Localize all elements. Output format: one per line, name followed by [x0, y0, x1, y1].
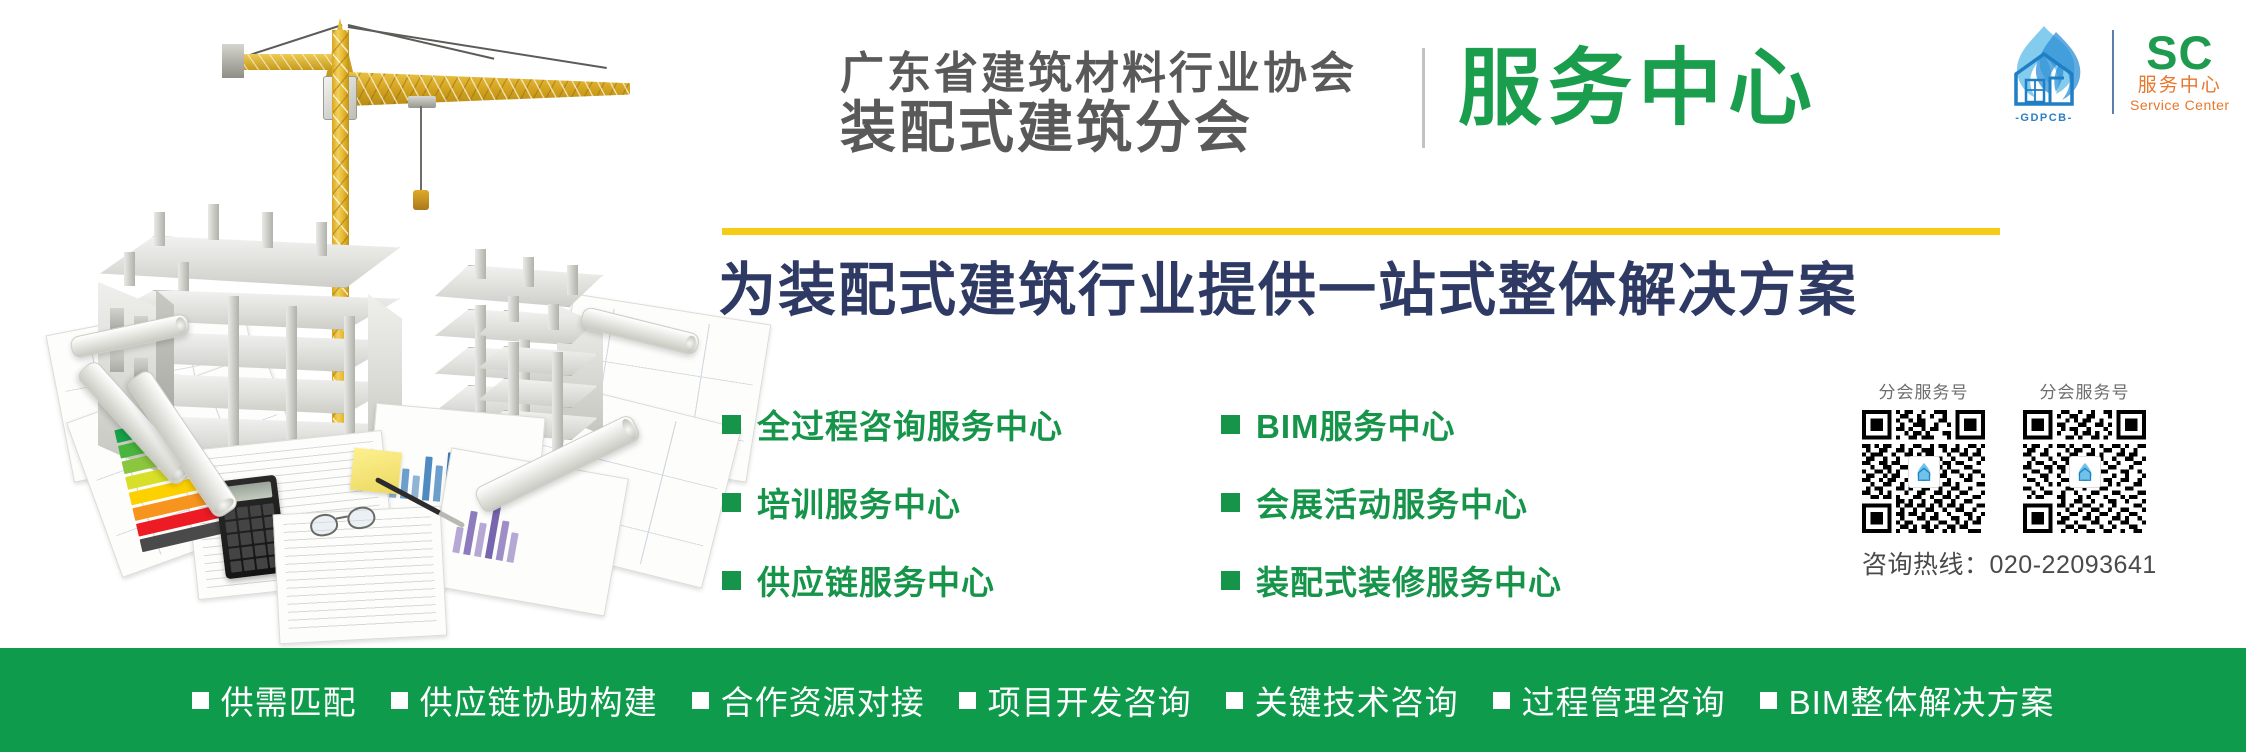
bullet-square-icon: [192, 692, 209, 709]
feature-label: 合作资源对接: [721, 676, 925, 724]
promotional-banner: 广东省建筑材料行业协会 装配式建筑分会 服务中心 为装配式建筑行业提供一站式整体…: [0, 0, 2246, 752]
service-item[interactable]: 培训服务中心: [722, 478, 1063, 526]
service-item-label: 供应链服务中心: [757, 556, 995, 604]
service-item-label: BIM服务中心: [1256, 400, 1456, 448]
service-item[interactable]: 装配式装修服务中心: [1221, 556, 1562, 604]
flame-house-icon: [1992, 22, 2096, 110]
bullet-square-icon: [1226, 692, 1243, 709]
construction-hero-image: [40, 10, 700, 630]
service-item-label: 装配式装修服务中心: [1256, 556, 1562, 604]
feature-item[interactable]: 过程管理咨询: [1493, 676, 1726, 724]
gdpcb-caption: -GDPCB-: [1992, 112, 2096, 124]
crane-jib: [348, 72, 630, 106]
feature-item[interactable]: 项目开发咨询: [959, 676, 1192, 724]
feature-item[interactable]: BIM整体解决方案: [1760, 676, 2055, 724]
tagline: 为装配式建筑行业提供一站式整体解决方案: [718, 258, 1858, 325]
organization-name-block: 广东省建筑材料行业协会 装配式建筑分会: [840, 52, 1357, 156]
bottom-feature-bar: 供需匹配 供应链协助构建 合作资源对接 项目开发咨询 关键技术咨询 过程管理咨询…: [0, 648, 2246, 752]
crane-hook: [413, 190, 429, 210]
qr-code-image[interactable]: [1862, 410, 1985, 533]
org-name-line-2: 装配式建筑分会: [840, 99, 1357, 156]
qr-cell: 分会服务号: [1862, 378, 1985, 533]
bullet-square-icon: [722, 571, 741, 590]
bullet-square-icon: [722, 415, 741, 434]
header-divider: [1422, 48, 1425, 148]
service-item[interactable]: 全过程咨询服务中心: [722, 400, 1063, 448]
bullet-square-icon: [1221, 415, 1240, 434]
feature-label: 过程管理咨询: [1522, 676, 1726, 724]
service-item-label: 会展活动服务中心: [1256, 478, 1528, 526]
bullet-square-icon: [722, 493, 741, 512]
qr-row: 分会服务号: [1862, 378, 2222, 533]
service-item-label: 全过程咨询服务中心: [757, 400, 1063, 448]
gdpcb-logo-mark: -GDPCB-: [1992, 22, 2096, 122]
service-item-label: 培训服务中心: [757, 478, 961, 526]
qr-caption: 分会服务号: [2040, 378, 2130, 403]
feature-label: 项目开发咨询: [988, 676, 1192, 724]
sc-chinese-label: 服务中心: [2138, 76, 2222, 97]
brand-logo[interactable]: -GDPCB- SC 服务中心 Service Center: [1992, 22, 2230, 122]
bullet-square-icon: [391, 692, 408, 709]
feature-item[interactable]: 合作资源对接: [692, 676, 925, 724]
crane-cable: [348, 26, 607, 68]
qr-cell: 分会服务号: [2023, 378, 2146, 533]
qr-caption: 分会服务号: [1879, 378, 1969, 403]
qr-center-logo: [2069, 456, 2101, 488]
hero-canvas: [40, 10, 700, 630]
bullet-square-icon: [1493, 692, 1510, 709]
feature-item[interactable]: 供应链协助构建: [391, 676, 658, 724]
service-center-list: 全过程咨询服务中心 培训服务中心 供应链服务中心 BIM服务中心 会展活动服务中…: [722, 400, 1562, 604]
bullet-square-icon: [692, 692, 709, 709]
org-name-line-1: 广东省建筑材料行业协会: [840, 52, 1357, 97]
service-column-right: BIM服务中心 会展活动服务中心 装配式装修服务中心: [1221, 400, 1562, 604]
bullet-square-icon: [1221, 493, 1240, 512]
service-center-title: 服务中心: [1458, 46, 1818, 130]
crane-trolley: [408, 96, 436, 108]
hotline-text: 咨询热线：020-22093641: [1862, 545, 2222, 581]
feature-item[interactable]: 关键技术咨询: [1226, 676, 1459, 724]
bullet-square-icon: [959, 692, 976, 709]
sc-letters: SC: [2146, 31, 2213, 76]
bullet-square-icon: [1760, 692, 1777, 709]
flame-house-icon: [2074, 461, 2096, 483]
crane-counterweight: [222, 44, 244, 78]
sc-english-label: Service Center: [2130, 98, 2230, 113]
bullet-square-icon: [1221, 571, 1240, 590]
qr-center-logo: [1908, 456, 1940, 488]
qr-code-image[interactable]: [2023, 410, 2146, 533]
logo-divider: [2112, 30, 2114, 114]
gold-divider-rule: [722, 228, 2000, 235]
crane-hook-line: [420, 106, 422, 192]
service-column-left: 全过程咨询服务中心 培训服务中心 供应链服务中心: [722, 400, 1063, 604]
qr-contact-block: 分会服务号: [1862, 378, 2222, 581]
feature-label: 供需匹配: [221, 676, 357, 724]
feature-label: BIM整体解决方案: [1789, 676, 2055, 724]
flame-house-icon: [1913, 461, 1935, 483]
feature-label: 供应链协助构建: [420, 676, 658, 724]
sc-logo-text: SC 服务中心 Service Center: [2130, 31, 2230, 114]
feature-item[interactable]: 供需匹配: [192, 676, 357, 724]
feature-label: 关键技术咨询: [1255, 676, 1459, 724]
crane-cable: [250, 24, 342, 55]
service-item[interactable]: BIM服务中心: [1221, 400, 1562, 448]
service-item[interactable]: 供应链服务中心: [722, 556, 1063, 604]
service-item[interactable]: 会展活动服务中心: [1221, 478, 1562, 526]
